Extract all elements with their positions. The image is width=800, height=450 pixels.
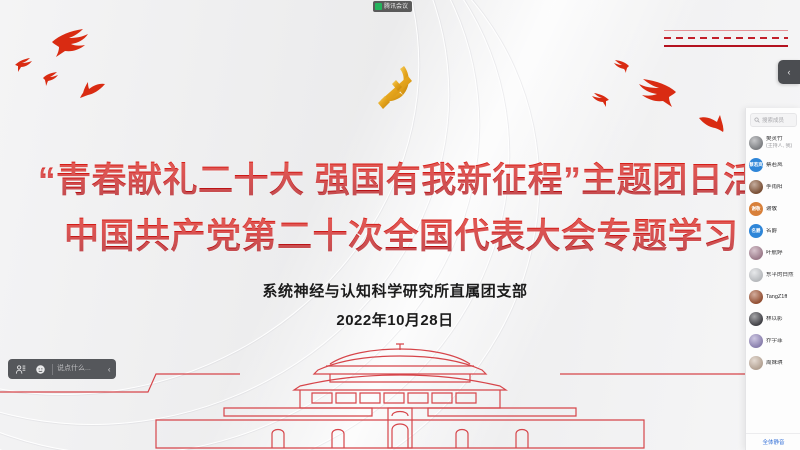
participant-meta: 周妹琪: [766, 360, 783, 367]
avatar: [749, 312, 763, 326]
dove-icon: [632, 77, 678, 109]
slide-title-line-1: “青春献礼二十大 强国有我新征程”主题团日活动: [38, 152, 794, 203]
meeting-app-name: 腾讯会议: [384, 4, 408, 10]
participant-name: 蔡若岚: [766, 162, 783, 169]
avatar: [749, 356, 763, 370]
participant-row[interactable]: 樊灵竹(主持人, 我): [746, 132, 800, 154]
participant-meta: 樊灵竹(主持人, 我): [766, 136, 792, 149]
participant-name: 李雨阳: [766, 184, 783, 191]
chevron-left-icon[interactable]: ‹: [105, 365, 114, 374]
participant-list: 樊灵竹(主持人, 我)蔡若岚蔡若岚李雨阳谢敬谢敬名爵名爵叶航婷东平的白然Tang…: [746, 130, 800, 374]
participant-meta: 叶航婷: [766, 250, 783, 257]
participant-meta: 蔡若岚: [766, 162, 783, 169]
avatar: 蔡若岚: [749, 158, 763, 172]
slide-title-line-2: 中国共产党第二十次全国代表大会专题学习: [64, 208, 739, 259]
emoji-icon[interactable]: [31, 360, 49, 378]
hammer-and-sickle-emblem: [374, 62, 418, 114]
participant-name: 乔宇菲: [766, 338, 783, 345]
participant-name: TangZ1ff: [766, 294, 787, 301]
participant-row[interactable]: 乔宇菲: [746, 330, 800, 352]
meeting-screen: “青春献礼二十大 强国有我新征程”主题团日活动 中国共产党第二十次全国代表大会专…: [0, 0, 800, 450]
avatar: 谢敬: [749, 202, 763, 216]
avatar: [749, 290, 763, 304]
tencent-meeting-logo-icon: [375, 3, 382, 10]
participant-name: 谢敬: [766, 206, 777, 213]
dove-icon: [612, 60, 630, 73]
participant-meta: 李雨阳: [766, 184, 783, 191]
shared-slide: “青春献礼二十大 强国有我新征程”主题团日活动 中国共产党第二十次全国代表大会专…: [0, 0, 800, 450]
slide-subtitle: 系统神经与认知科学研究所直属团支部: [0, 280, 790, 301]
dove-icon: [50, 28, 94, 58]
dove-icon: [42, 72, 60, 86]
avatar: [749, 136, 763, 150]
participant-row[interactable]: 周妹琪: [746, 352, 800, 374]
chat-input[interactable]: 说点什么...: [55, 359, 105, 379]
participant-name: 名爵: [766, 228, 777, 235]
participant-meta: 名爵: [766, 228, 777, 235]
participant-name: 林以影: [766, 316, 783, 323]
avatar: 名爵: [749, 224, 763, 238]
avatar: [749, 268, 763, 282]
divider: [52, 364, 53, 375]
participant-meta: 东平的白然: [766, 272, 794, 279]
participant-name: 周妹琪: [766, 360, 783, 367]
participant-row[interactable]: 李雨阳: [746, 176, 800, 198]
dove-icon: [698, 115, 724, 133]
dove-group-left: [0, 0, 260, 140]
avatar: [749, 334, 763, 348]
participant-row[interactable]: 名爵名爵: [746, 220, 800, 242]
search-icon: [754, 117, 760, 123]
dove-icon: [80, 82, 106, 102]
participant-meta: 谢敬: [766, 206, 777, 213]
meeting-chat-toolbar[interactable]: 说点什么... ‹: [8, 359, 116, 379]
participant-row[interactable]: 蔡若岚蔡若岚: [746, 154, 800, 176]
dove-icon: [590, 93, 610, 107]
chevron-left-icon: ‹: [788, 67, 791, 77]
participant-row[interactable]: 叶航婷: [746, 242, 800, 264]
dove-icon: [14, 58, 34, 72]
avatar: [749, 246, 763, 260]
panel-collapse-button[interactable]: ‹: [778, 60, 800, 84]
participant-row[interactable]: TangZ1ff: [746, 286, 800, 308]
slide-date: 2022年10月28日: [0, 309, 790, 330]
participant-role: (主持人, 我): [766, 143, 792, 149]
search-member-placeholder: 搜索成员: [762, 116, 784, 124]
participant-row[interactable]: 林以影: [746, 308, 800, 330]
participant-row[interactable]: 东平的白然: [746, 264, 800, 286]
mute-all-button[interactable]: 全体静音: [746, 433, 800, 450]
participant-name: 叶航婷: [766, 250, 783, 257]
participant-row[interactable]: 谢敬谢敬: [746, 198, 800, 220]
participant-meta: TangZ1ff: [766, 294, 787, 301]
search-member-box[interactable]: 搜索成员: [750, 113, 797, 127]
participant-meta: 乔宇菲: [766, 338, 783, 345]
participant-meta: 林以影: [766, 316, 783, 323]
decorative-lines: [664, 30, 788, 52]
mute-all-label: 全体静音: [762, 438, 784, 446]
participants-icon[interactable]: [11, 360, 29, 378]
meeting-app-badge: 腾讯会议: [373, 1, 412, 12]
participants-panel: 搜索成员 樊灵竹(主持人, 我)蔡若岚蔡若岚李雨阳谢敬谢敬名爵名爵叶航婷东平的白…: [745, 108, 800, 450]
participant-name: 东平的白然: [766, 272, 794, 279]
tiananmen-gate-line-art: [0, 330, 800, 450]
avatar: [749, 180, 763, 194]
participant-name: 樊灵竹: [766, 136, 792, 143]
